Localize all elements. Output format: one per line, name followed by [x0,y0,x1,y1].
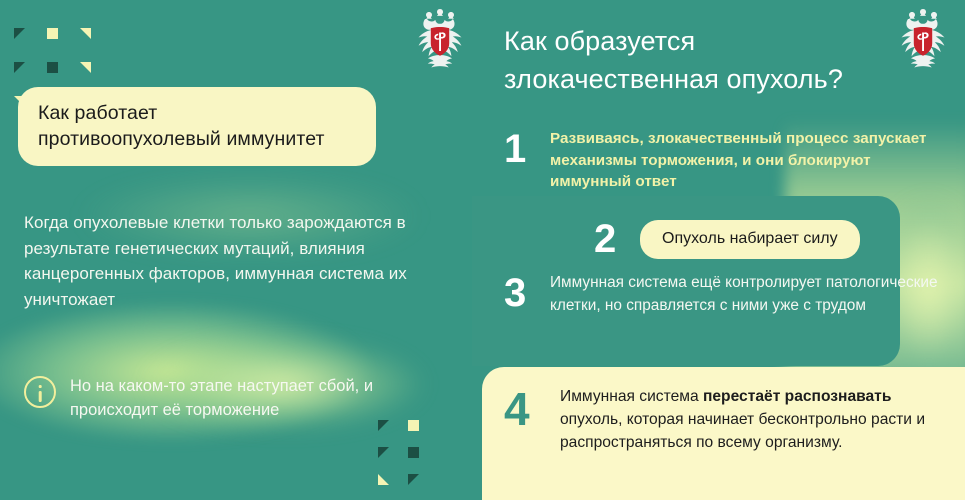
left-panel: Как работает противоопухолевый иммунитет… [0,0,482,500]
decor-dots-bottom [378,420,438,490]
left-body-text: Когда опухолевые клетки только зарождают… [24,210,444,312]
left-title-card: Как работает противоопухолевый иммунитет [18,87,376,166]
step-text-4: Иммунная система перестаёт распознавать … [560,385,954,454]
step-text-4-after: опухоль, которая начинает бесконтрольно … [560,411,925,451]
left-note-text: Но на каком-то этапе наступает сбой, и п… [70,374,454,422]
info-icon [24,376,56,408]
page-title-line-1: Как образуется [504,22,954,60]
step-number-1: 1 [504,128,550,170]
step-text-1: Развиваясь, злокачественный процесс запу… [550,128,954,193]
step-number-2: 2 [594,218,640,260]
step-item-2: 2 Опухоль набирает силу [504,218,954,260]
step-number-4: 4 [504,385,560,433]
right-panel: Как образуется злокачественная опухоль? … [482,0,965,500]
step-item-3: 3 Иммунная система ещё контролирует пато… [504,272,954,317]
step-text-4-before: Иммунная система [560,388,703,405]
russian-ministry-of-health-emblem [412,6,468,68]
left-title-line-2: противоопухолевый иммунитет [38,126,354,152]
infographic-slide: Как работает противоопухолевый иммунитет… [0,0,965,500]
left-title-line-1: Как работает [38,100,354,126]
left-note: Но на каком-то этапе наступает сбой, и п… [24,374,454,422]
step-item-4: 4 Иммунная система перестаёт распознават… [504,385,954,454]
step-text-3: Иммунная система ещё контролирует патоло… [550,272,954,317]
page-title-line-2: злокачественная опухоль? [504,60,954,98]
step-text-4-bold: перестаёт распознавать [703,388,891,405]
step-pill-2: Опухоль набирает силу [640,220,860,259]
decor-dots-top-left [14,28,124,88]
step-item-1: 1 Развиваясь, злокачественный процесс за… [504,128,954,193]
step-number-3: 3 [504,272,550,314]
page-title: Как образуется злокачественная опухоль? [504,22,954,98]
